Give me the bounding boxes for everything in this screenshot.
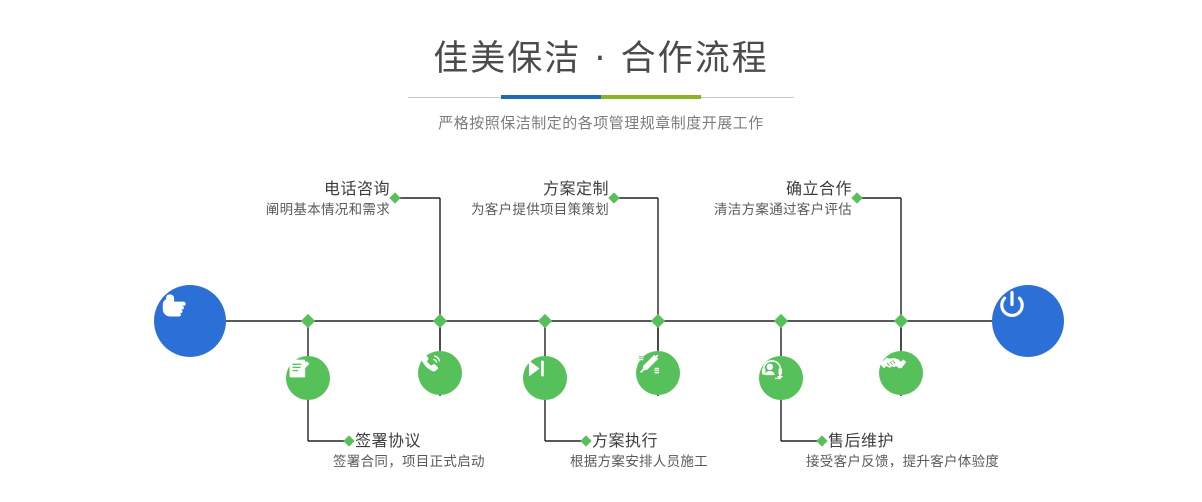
step-node-5[interactable] — [879, 351, 923, 395]
document-sign-icon — [286, 356, 311, 381]
diamond-marker — [651, 314, 665, 328]
diamond-marker — [774, 314, 788, 328]
divider-segment-blue — [501, 95, 601, 99]
diamond-marker — [433, 314, 447, 328]
label-anchor-diamond — [851, 192, 862, 203]
flow-end-node[interactable] — [992, 285, 1064, 357]
power-icon — [992, 285, 1032, 325]
step-node-4[interactable] — [523, 356, 567, 400]
diamond-marker — [538, 314, 552, 328]
step-title: 确立合作 — [557, 178, 852, 200]
step-label-5: 确立合作 清洁方案通过客户评估 — [557, 178, 852, 221]
pencil-ruler-icon — [636, 351, 662, 377]
title-divider — [408, 92, 794, 104]
play-execute-icon — [523, 356, 548, 381]
step-label-6: 售后维护 接受客户反馈，提升客户体验度 — [828, 430, 1148, 473]
label-anchor-diamond — [343, 435, 354, 446]
step-node-3[interactable] — [636, 351, 680, 395]
step-title: 售后维护 — [828, 430, 1148, 452]
diamond-marker — [301, 314, 315, 328]
step-desc: 清洁方案通过客户评估 — [557, 200, 852, 221]
divider-segment-green — [601, 95, 701, 99]
page-title: 佳美保洁 · 合作流程 — [0, 0, 1202, 82]
page-subtitle: 严格按照保洁制定的各项管理规章制度开展工作 — [0, 112, 1202, 134]
pointing-hand-icon — [154, 285, 194, 325]
flow-start-node[interactable] — [154, 285, 226, 357]
diamond-marker — [894, 314, 908, 328]
step-desc: 接受客户反馈，提升客户体验度 — [806, 452, 1148, 473]
page-header: 佳美保洁 · 合作流程 严格按照保洁制定的各项管理规章制度开展工作 — [0, 0, 1202, 134]
step-node-6[interactable] — [759, 356, 803, 400]
process-flow-diagram: 电话咨询 阐明基本情况和需求 方案定制 为客户提供项目策策划 确立合作 清洁方案… — [0, 150, 1202, 502]
step-node-2[interactable] — [286, 356, 330, 400]
customer-service-icon — [759, 356, 785, 382]
step-node-1[interactable] — [418, 351, 462, 395]
phone-call-icon — [418, 351, 444, 377]
handshake-icon — [879, 351, 906, 378]
